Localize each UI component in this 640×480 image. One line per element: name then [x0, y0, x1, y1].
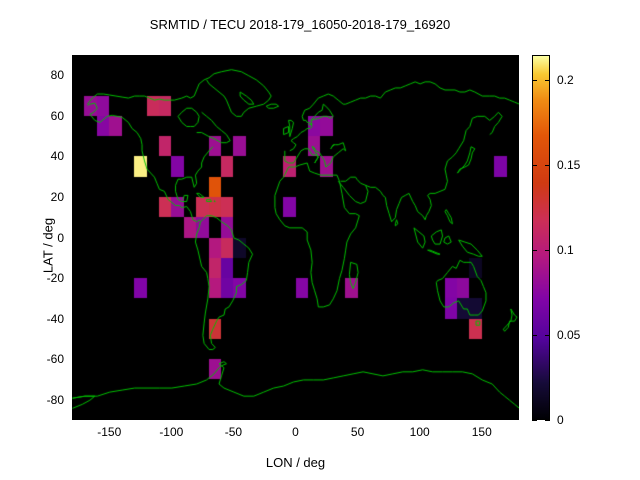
figure: SRMTID / TECU 2018-179_16050-2018-179_16…: [0, 0, 640, 480]
x-tick-label: -150: [97, 425, 121, 439]
x-tick-mark: [171, 415, 172, 420]
x-tick-mark: [233, 415, 234, 420]
x-tick-mark: [358, 415, 359, 420]
map-plot-area: [72, 55, 519, 420]
x-tick-label: -100: [159, 425, 183, 439]
y-tick-label: -80: [47, 393, 64, 407]
colorbar-tick-label: 0: [557, 413, 564, 427]
colorbar-tick-mark: [532, 420, 537, 421]
x-axis-label: LON / deg: [0, 455, 591, 470]
y-tick-mark: [72, 319, 77, 320]
y-tick-label: 20: [51, 190, 64, 204]
coastline-overlay: [72, 55, 519, 420]
colorbar-tick-mark: [545, 420, 550, 421]
x-tick-label: 0: [292, 425, 299, 439]
y-tick-label: 0: [57, 231, 64, 245]
colorbar-tick-mark: [545, 250, 550, 251]
x-tick-label: 50: [351, 425, 364, 439]
colorbar-tick-label: 0.15: [557, 158, 580, 172]
y-tick-label: 40: [51, 149, 64, 163]
colorbar-tick-label: 0.2: [557, 73, 574, 87]
x-tick-label: -50: [225, 425, 242, 439]
x-tick-label: 150: [472, 425, 492, 439]
colorbar-tick-label: 0.05: [557, 328, 580, 342]
x-tick-mark: [482, 415, 483, 420]
colorbar-tick-label: 0.1: [557, 243, 574, 257]
y-tick-mark: [72, 400, 77, 401]
y-tick-mark: [72, 278, 77, 279]
colorbar-tick-mark: [545, 165, 550, 166]
y-tick-mark: [72, 238, 77, 239]
y-tick-label: -60: [47, 352, 64, 366]
x-tick-mark: [109, 415, 110, 420]
y-tick-label: -40: [47, 312, 64, 326]
y-tick-label: 80: [51, 68, 64, 82]
y-tick-mark: [72, 156, 77, 157]
y-tick-label: 60: [51, 109, 64, 123]
colorbar-tick-mark: [532, 165, 537, 166]
colorbar-tick-mark: [545, 80, 550, 81]
colorbar-tick-mark: [545, 335, 550, 336]
y-tick-label: -20: [47, 271, 64, 285]
x-tick-mark: [296, 415, 297, 420]
page-title: SRMTID / TECU 2018-179_16050-2018-179_16…: [0, 17, 600, 32]
colorbar-tick-mark: [532, 80, 537, 81]
y-tick-mark: [72, 116, 77, 117]
y-tick-mark: [72, 197, 77, 198]
y-tick-mark: [72, 359, 77, 360]
colorbar: [532, 55, 550, 420]
x-tick-label: 100: [410, 425, 430, 439]
y-tick-mark: [72, 75, 77, 76]
colorbar-tick-mark: [532, 250, 537, 251]
x-tick-mark: [420, 415, 421, 420]
colorbar-tick-mark: [532, 335, 537, 336]
